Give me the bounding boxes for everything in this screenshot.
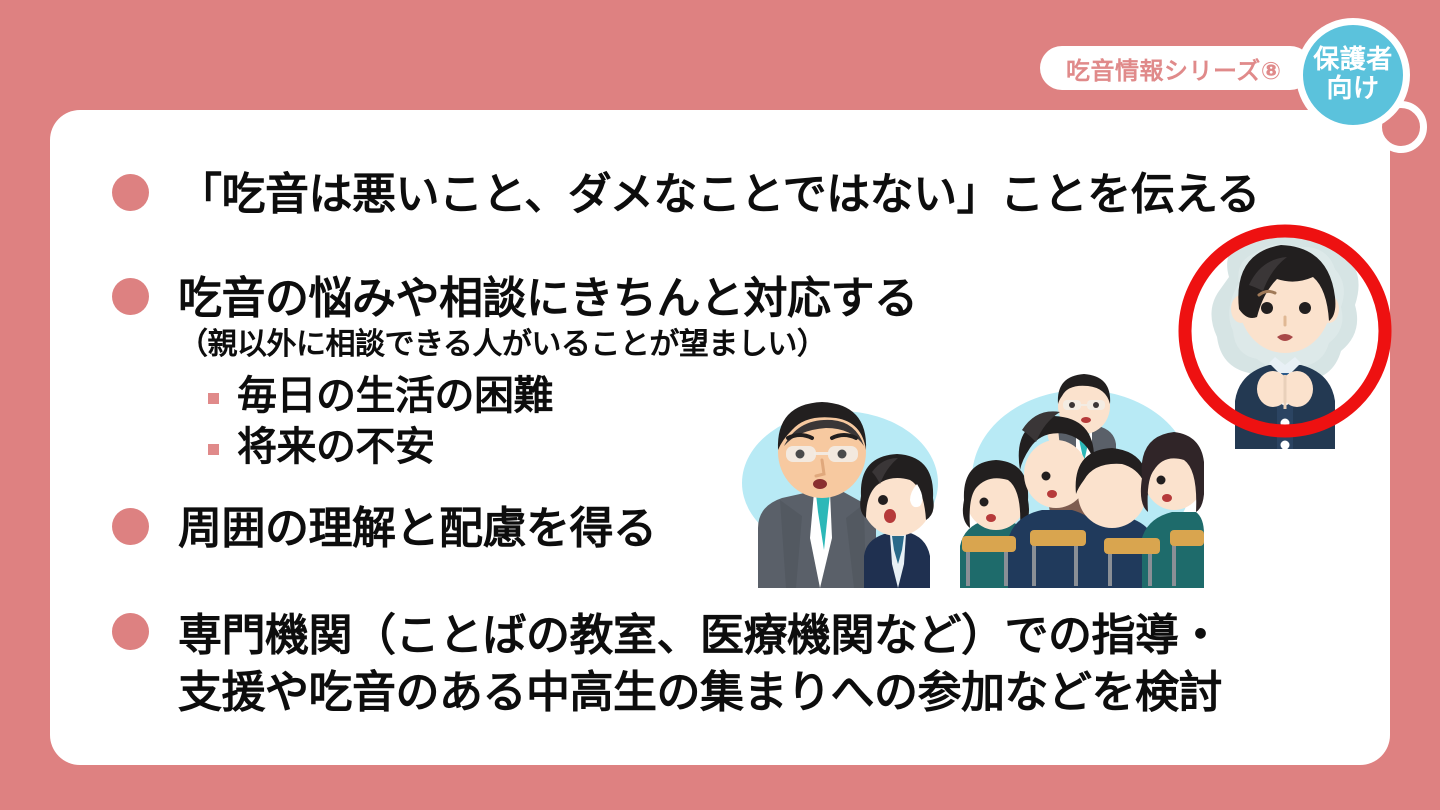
square-bullet-icon [208, 393, 219, 404]
bullet-dot-icon [112, 508, 149, 545]
audience-badge-line-1: 保護者 [1313, 46, 1393, 75]
bullet-dot-icon [112, 174, 149, 211]
audience-badge: 保護者 向け [1296, 18, 1410, 132]
bullet-item-1-text: 「吃音は悪いこと、ダメなことではない」ことを伝える [178, 169, 1260, 220]
teacher-and-student-illustration [740, 388, 956, 588]
subitem-2-text: 将来の不安 [237, 423, 435, 472]
bullet-item-2-note: （親以外に相談できる人がいることが望ましい） [178, 327, 826, 362]
bullet-item-4: 専門機関（ことばの教室、医療機関など）での指導・ 支援や吃音のある中高生の集まり… [112, 607, 1222, 721]
series-label-pill: 吃音情報シリーズ⑧ [1040, 46, 1312, 90]
bullet-dot-icon [112, 613, 149, 650]
bullet-item-4-text: 専門機関（ことばの教室、医療機関など）での指導・ 支援や吃音のある中高生の集まり… [178, 610, 1222, 718]
subitem-2: 将来の不安 [208, 423, 553, 472]
audience-badge-line-2: 向け [1326, 75, 1379, 104]
bullet-item-3-text: 周囲の理解と配慮を得る [178, 503, 657, 554]
series-label-text: 吃音情報シリーズ⑧ [1066, 51, 1282, 86]
bullet-item-2-text: 吃音の悩みや相談にきちんと対応する [178, 273, 918, 324]
subitem-1: 毎日の生活の困難 [208, 372, 553, 421]
bullet-dot-icon [112, 278, 149, 315]
worried-boy-illustration [1177, 213, 1393, 449]
square-bullet-icon [208, 444, 219, 455]
slide-root: 吃音情報シリーズ⑧ 保護者 向け [0, 0, 1440, 810]
bullet-item-1: 「吃音は悪いこと、ダメなことではない」ことを伝える [112, 168, 1260, 222]
bullet-item-2-subitems: 毎日の生活の困難 将来の不安 [208, 372, 553, 474]
subitem-1-text: 毎日の生活の困難 [237, 372, 553, 421]
lecture-audience-illustration [960, 370, 1204, 588]
bullet-item-3: 周囲の理解と配慮を得る [112, 502, 657, 556]
